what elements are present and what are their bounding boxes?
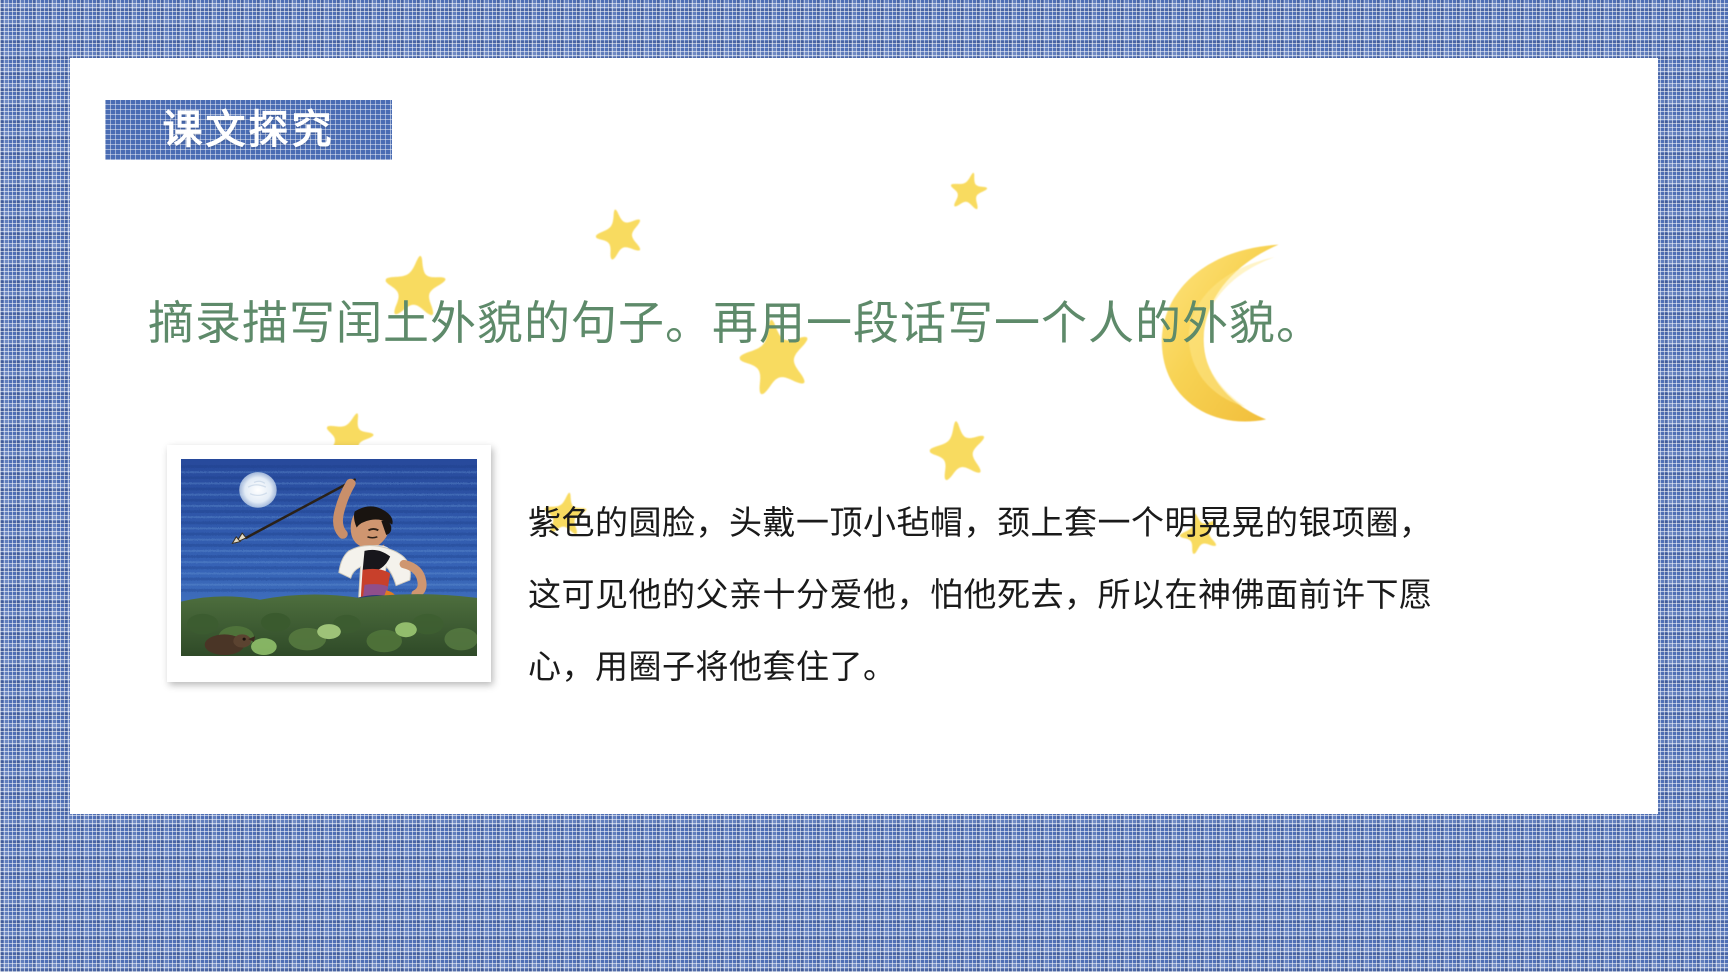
- section-title-badge: 课文探究: [105, 100, 392, 160]
- illustration-frame: [167, 445, 491, 682]
- runtu-illustration-svg: [181, 459, 477, 656]
- slide-root: 课文探究 摘录描写闰土外貌的句子。再用一段话写一个人的外貌。: [0, 0, 1728, 972]
- illustration-image: [181, 459, 477, 656]
- page-title: 摘录描写闰土外貌的句子。再用一段话写一个人的外貌。: [148, 296, 1498, 350]
- section-title-label: 课文探究: [163, 110, 335, 150]
- body-paragraph: 紫色的圆脸，头戴一顶小毡帽，颈上套一个明晃晃的银项圈，这可见他的父亲十分爱他，怕…: [528, 487, 1458, 703]
